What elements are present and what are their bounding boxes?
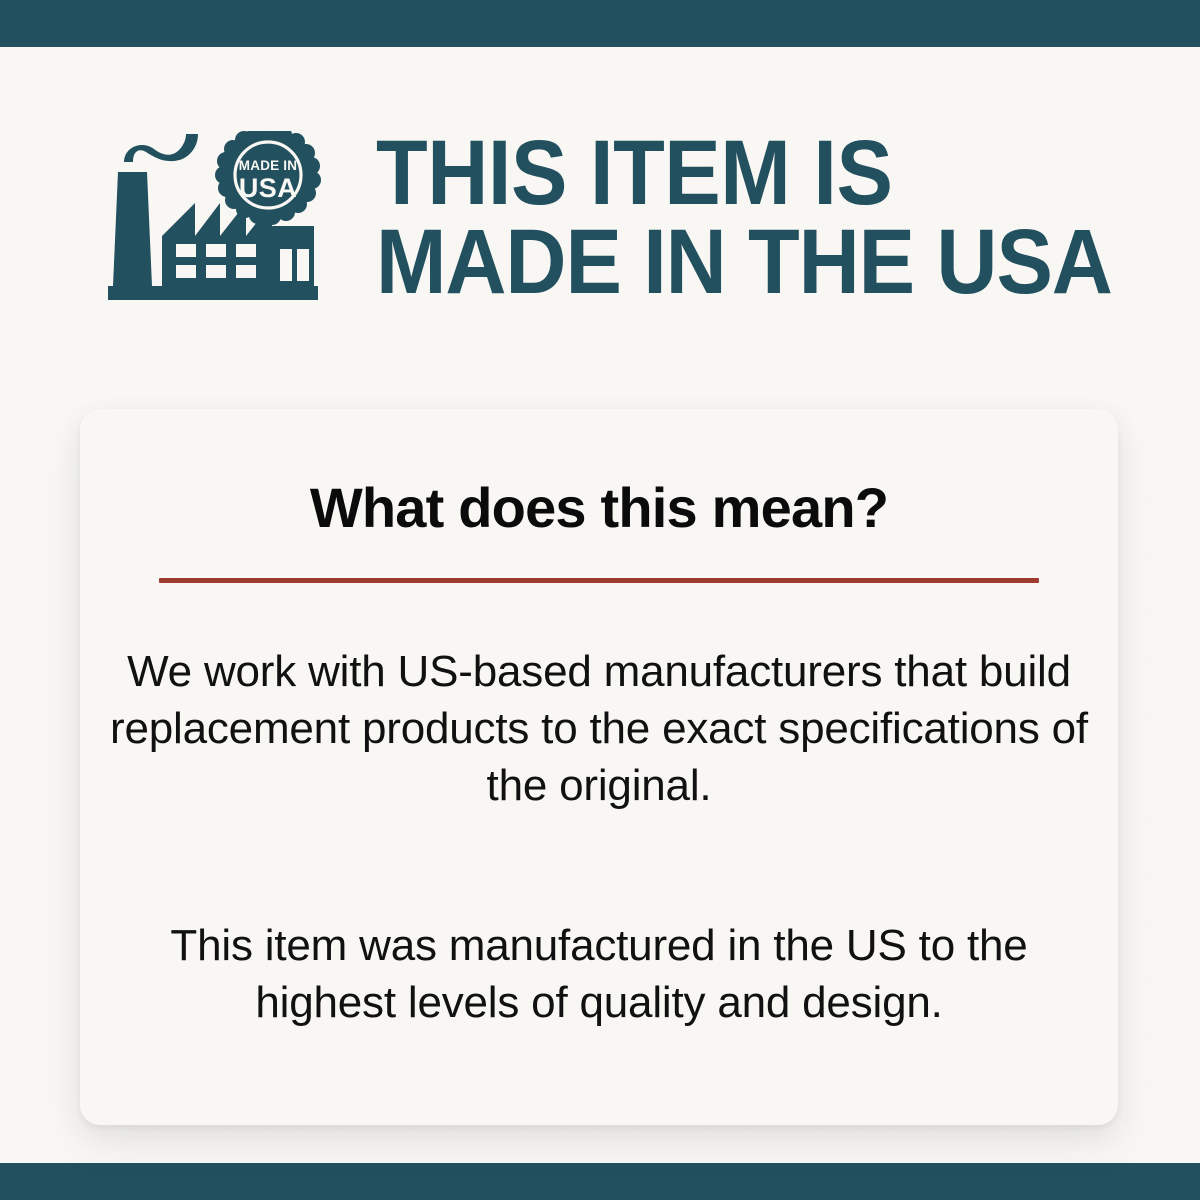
header-title: THIS ITEM IS MADE IN THE USA xyxy=(376,129,1176,306)
title-line-1: THIS ITEM IS xyxy=(376,129,1112,217)
svg-text:MADE IN: MADE IN xyxy=(239,158,297,173)
page-root: MADE IN USA THIS ITEM IS MADE IN THE USA… xyxy=(0,0,1200,1200)
card-heading: What does this mean? xyxy=(80,480,1118,536)
top-accent-band xyxy=(0,0,1200,47)
svg-text:USA: USA xyxy=(239,173,297,203)
factory-icon: MADE IN USA xyxy=(100,131,340,311)
content-stage: MADE IN USA THIS ITEM IS MADE IN THE USA… xyxy=(0,47,1200,1163)
header: MADE IN USA THIS ITEM IS MADE IN THE USA xyxy=(0,100,1200,335)
body-paragraph-1: We work with US-based manufacturers that… xyxy=(98,643,1100,815)
card-body: We work with US-based manufacturers that… xyxy=(80,643,1118,1031)
made-in-usa-seal-icon: MADE IN USA xyxy=(215,131,321,225)
bottom-accent-band xyxy=(0,1163,1200,1200)
title-line-2: MADE IN THE USA xyxy=(376,218,1112,306)
heading-divider xyxy=(159,578,1039,583)
body-paragraph-2: This item was manufactured in the US to … xyxy=(98,917,1100,1031)
info-card: What does this mean? We work with US-bas… xyxy=(80,409,1118,1125)
